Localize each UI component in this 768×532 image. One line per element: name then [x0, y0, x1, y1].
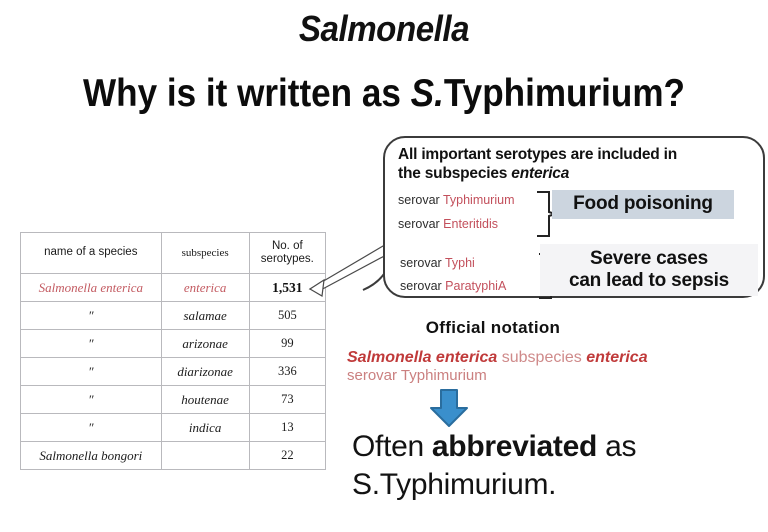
cell-species-name: Salmonella enterica [21, 274, 162, 302]
question-heading-prefix: Why is it written as [83, 72, 411, 115]
cell-serotype-count: 505 [249, 302, 325, 330]
abbreviation-statement: Often abbreviated asS.Typhimurium. [352, 428, 762, 505]
official-notation-serovar: serovar Typhimurium [347, 367, 487, 384]
table-header-row: name of a species subspecies No. of sero… [21, 233, 326, 274]
official-species: Salmonella enterica [347, 349, 497, 366]
serovar-enteritidis: serovar Enteritidis [398, 217, 498, 231]
effect-food-poisoning: Food poisoning [552, 190, 734, 219]
table-header: name of a species subspecies No. of sero… [21, 233, 326, 274]
cell-subspecies: enterica [161, 274, 249, 302]
official-notation-title: Official notation [383, 318, 603, 338]
table-row: ″arizonae99 [21, 330, 326, 358]
cell-serotype-count: 99 [249, 330, 325, 358]
official-subspecies-word: subspecies [497, 349, 586, 366]
effect-severe-sepsis: Severe casescan lead to sepsis [540, 244, 758, 296]
abbrev-suffix: as [597, 430, 636, 463]
table-body: Salmonella entericaenterica1,531″salamae… [21, 274, 326, 470]
table-row: ″salamae505 [21, 302, 326, 330]
cell-serotype-count: 336 [249, 358, 325, 386]
callout-title: All important serotypes are included int… [398, 146, 758, 184]
cell-species-name: ″ [21, 414, 162, 442]
column-header-serotypes: No. of serotypes. [249, 233, 325, 274]
cell-species-name: ″ [21, 302, 162, 330]
cell-subspecies [161, 442, 249, 470]
effect-food-label: Food poisoning [573, 193, 713, 215]
serovar-label: serovar [400, 279, 445, 293]
callout-title-line2-italic: enterica [511, 165, 569, 182]
table-row: ″diarizonae336 [21, 358, 326, 386]
serovar-label: serovar [398, 217, 443, 231]
cell-serotype-count: 73 [249, 386, 325, 414]
column-header-subspecies: subspecies [161, 233, 249, 274]
table-row: ″houtenae73 [21, 386, 326, 414]
cell-species-name: ″ [21, 330, 162, 358]
serovar-paratyphia: serovar ParatyphiA [400, 279, 506, 293]
serovar-name: Enteritidis [443, 217, 498, 231]
abbrev-line2: S.Typhimurium. [352, 468, 556, 501]
cell-subspecies: diarizonae [161, 358, 249, 386]
table-row: ″indica13 [21, 414, 326, 442]
serovar-name: Typhimurium [443, 193, 515, 207]
genus-title: Salmonella [31, 8, 738, 50]
column-header-species: name of a species [21, 233, 162, 274]
serovar-typhimurium: serovar Typhimurium [398, 193, 514, 207]
serovar-typhi: serovar Typhi [400, 256, 475, 270]
cell-serotype-count: 13 [249, 414, 325, 442]
cell-serotype-count: 1,531 [249, 274, 325, 302]
serovar-name: ParatyphiA [445, 279, 506, 293]
serovar-label: serovar [400, 256, 445, 270]
cell-subspecies: houtenae [161, 386, 249, 414]
cell-subspecies: arizonae [161, 330, 249, 358]
effect-sepsis-line2: can lead to sepsis [569, 270, 729, 292]
cell-species-name: Salmonella bongori [21, 442, 162, 470]
official-subspecies: enterica [586, 349, 647, 366]
abbrev-prefix: Often [352, 430, 432, 463]
cell-species-name: ″ [21, 358, 162, 386]
species-serotype-table: name of a species subspecies No. of sero… [20, 232, 326, 470]
abbrev-bold-word: abbreviated [432, 430, 597, 463]
table-row: Salmonella bongori22 [21, 442, 326, 470]
serovar-label: serovar [398, 193, 443, 207]
effect-sepsis-line1: Severe cases [590, 248, 708, 270]
official-notation-line1: Salmonella enterica subspecies enterica [347, 349, 648, 367]
cell-species-name: ″ [21, 386, 162, 414]
question-heading-italic: S. [411, 72, 444, 115]
callout-title-line1: All important serotypes are included in [398, 146, 677, 163]
cell-serotype-count: 22 [249, 442, 325, 470]
serovar-name: Typhi [445, 256, 475, 270]
page-title: Why is it written as S.Typhimurium? [38, 72, 729, 116]
cell-subspecies: salamae [161, 302, 249, 330]
down-arrow-icon [427, 388, 471, 428]
table-row: Salmonella entericaenterica1,531 [21, 274, 326, 302]
cell-subspecies: indica [161, 414, 249, 442]
question-heading-suffix: Typhimurium? [444, 72, 685, 115]
callout-title-line2-prefix: the subspecies [398, 165, 511, 182]
